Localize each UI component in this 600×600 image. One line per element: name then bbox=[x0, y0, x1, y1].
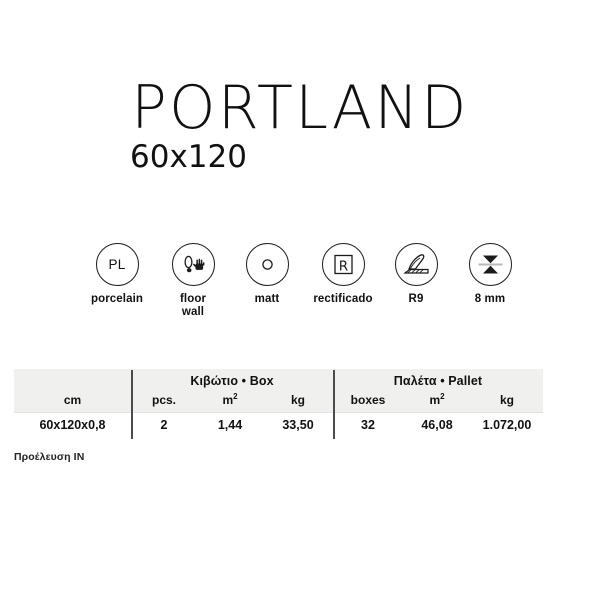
product-size: 60x120 bbox=[130, 142, 247, 173]
pl-circle-icon: PL bbox=[96, 243, 139, 286]
feature-label-thickness: 8 mm bbox=[445, 293, 535, 306]
group-header-pallet: Παλέτα • Pallet bbox=[333, 374, 543, 388]
col-header-cm: cm bbox=[14, 393, 131, 407]
slip-resistance-glyph bbox=[396, 244, 437, 285]
col-header-box-m2: m2 bbox=[197, 393, 263, 407]
col-header-pallet-m2: m2 bbox=[403, 393, 471, 407]
svg-text:R: R bbox=[338, 258, 347, 274]
feature-label-line2: wall bbox=[182, 306, 204, 318]
feature-label-line1: 8 mm bbox=[475, 293, 505, 305]
cell-pallet-kg: 1.072,00 bbox=[471, 418, 543, 432]
product-spec-sheet: PORTLAND 60x120 PL porcelain bbox=[0, 0, 600, 600]
cell-pallet-m2: 46,08 bbox=[403, 418, 471, 432]
col-header-pallet-kg: kg bbox=[471, 393, 543, 407]
col-header-box-m2-text: m bbox=[222, 393, 233, 407]
feature-icon-row: PL porcelain bbox=[0, 243, 600, 323]
thickness-caliper-icon bbox=[469, 243, 512, 286]
product-title: PORTLAND bbox=[6, 78, 594, 138]
cell-cm: 60x120x0,8 bbox=[14, 418, 131, 432]
feature-label-line1: matt bbox=[255, 293, 280, 305]
cell-box-m2: 1,44 bbox=[197, 418, 263, 432]
matt-dot-icon bbox=[246, 243, 289, 286]
rectified-r-glyph: R bbox=[323, 244, 364, 285]
col-header-box-kg: kg bbox=[263, 393, 333, 407]
origin-note: Προέλευση IN bbox=[14, 451, 84, 463]
feature-label-line1: porcelain bbox=[91, 293, 143, 305]
col-header-pallet-boxes: boxes bbox=[333, 393, 403, 407]
col-header-box-m2-sup: 2 bbox=[233, 392, 237, 401]
cell-box-pcs: 2 bbox=[131, 418, 197, 432]
rectified-r-icon: R bbox=[322, 243, 365, 286]
spec-table: Κιβώτιο • Box Παλέτα • Pallet cm pcs. m2… bbox=[14, 369, 543, 441]
cell-pallet-boxes: 32 bbox=[333, 418, 403, 432]
feature-label-line1: rectificado bbox=[313, 293, 372, 305]
thickness-caliper-glyph bbox=[470, 244, 511, 285]
feature-label-line1: R9 bbox=[409, 293, 424, 305]
slip-resistance-icon bbox=[395, 243, 438, 286]
col-header-box-pcs: pcs. bbox=[131, 393, 197, 407]
pl-icon-text: PL bbox=[97, 244, 138, 285]
feature-label-line1: floor bbox=[180, 293, 206, 305]
group-header-box: Κιβώτιο • Box bbox=[131, 374, 333, 388]
matt-dot-glyph bbox=[247, 244, 288, 285]
foot-hand-glyph bbox=[173, 244, 214, 285]
foot-hand-icon bbox=[172, 243, 215, 286]
table-header-rule bbox=[14, 412, 543, 413]
feature-thickness: 8 mm bbox=[445, 243, 535, 306]
col-header-pallet-m2-text: m bbox=[429, 393, 440, 407]
col-header-pallet-m2-sup: 2 bbox=[440, 392, 444, 401]
cell-box-kg: 33,50 bbox=[263, 418, 333, 432]
